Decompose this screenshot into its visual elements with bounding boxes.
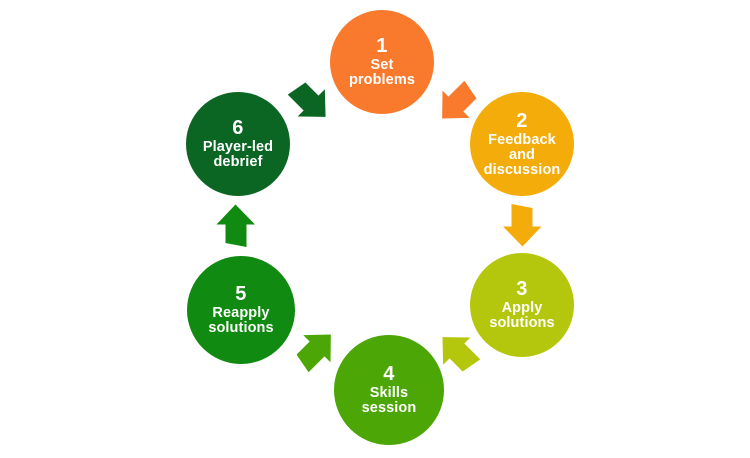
step-circle-5[interactable] bbox=[187, 256, 295, 364]
step-circle-1[interactable] bbox=[330, 10, 434, 114]
step-circle-2[interactable] bbox=[470, 92, 574, 196]
step-circle-3[interactable] bbox=[470, 253, 574, 357]
arrow-6-to-1 bbox=[282, 73, 339, 130]
diagram-canvas: 1Setproblems2Feedbackanddiscussion3Apply… bbox=[0, 0, 750, 458]
arrow-2-to-3 bbox=[503, 204, 542, 247]
arrow-6-to-1-shape bbox=[282, 73, 339, 130]
arrow-2-to-3-shape bbox=[503, 204, 542, 247]
arrow-4-to-5-shape bbox=[287, 321, 344, 378]
cycle-diagram bbox=[0, 0, 750, 458]
arrow-4-to-5 bbox=[287, 321, 344, 378]
arrow-5-to-6-shape bbox=[217, 205, 256, 248]
arrow-5-to-6 bbox=[217, 205, 256, 248]
step-circle-4[interactable] bbox=[334, 335, 444, 445]
step-circle-6[interactable] bbox=[186, 92, 290, 196]
